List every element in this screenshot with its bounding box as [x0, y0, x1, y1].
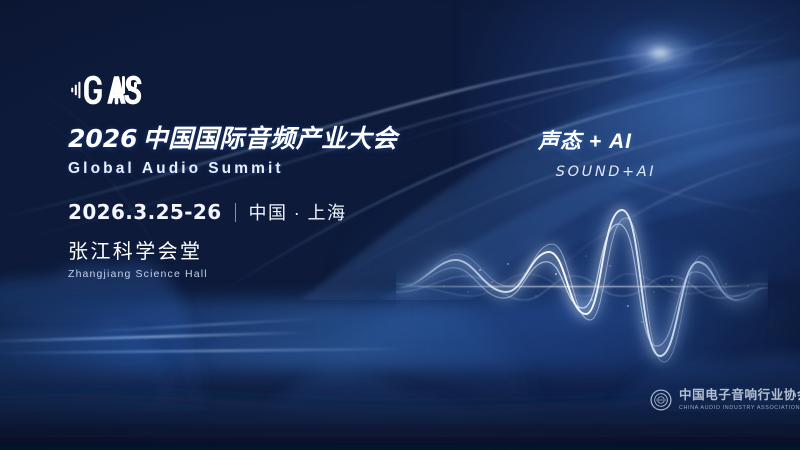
title-english: GlobalAudioSummit	[68, 160, 398, 178]
venue-name-english: Zhangjiang Science Hall	[68, 268, 208, 280]
title-en-word: Summit	[208, 160, 283, 177]
page-title: 2026中国国际音频产业大会	[68, 124, 398, 155]
association-name-chinese: 中国电子音响行业协会	[679, 389, 800, 403]
association-emblem-icon	[650, 389, 672, 411]
title-block: 2026中国国际音频产业大会 GlobalAudioSummit	[68, 124, 398, 178]
content-layer: 2026中国国际音频产业大会 GlobalAudioSummit 2026.3.…	[0, 0, 800, 450]
event-meta: 2026.3.25-26 中国 · 上海	[68, 199, 346, 225]
title-year: 2026	[68, 124, 138, 153]
title-en-word: Audio	[142, 160, 201, 177]
tagline-chinese: 声态 + AI	[500, 125, 670, 155]
title-en-word: Global	[68, 160, 135, 177]
gas-logo-right-bars	[122, 76, 137, 94]
event-date: 2026.3.25-26	[68, 200, 222, 224]
venue-block: 张江科学会堂 Zhangjiang Science Hall	[68, 235, 208, 280]
association-text: 中国电子音响行业协会 CHINA AUDIO INDUSTRY ASSOCIAT…	[679, 389, 800, 411]
tagline-english: SOUND+AI	[542, 164, 670, 180]
title-chinese: 中国国际音频产业大会	[143, 125, 398, 153]
venue-name-chinese: 张江科学会堂	[68, 235, 208, 264]
association-logo: 中国电子音响行业协会 CHINA AUDIO INDUSTRY ASSOCIAT…	[650, 389, 800, 411]
event-location: 中国 · 上海	[249, 199, 347, 225]
meta-divider	[235, 203, 236, 222]
association-name-english: CHINA AUDIO INDUSTRY ASSOCIATION	[679, 405, 800, 411]
tagline-block: 声态 + AI SOUND+AI	[500, 125, 670, 180]
event-poster: 2026中国国际音频产业大会 GlobalAudioSummit 2026.3.…	[0, 0, 800, 450]
